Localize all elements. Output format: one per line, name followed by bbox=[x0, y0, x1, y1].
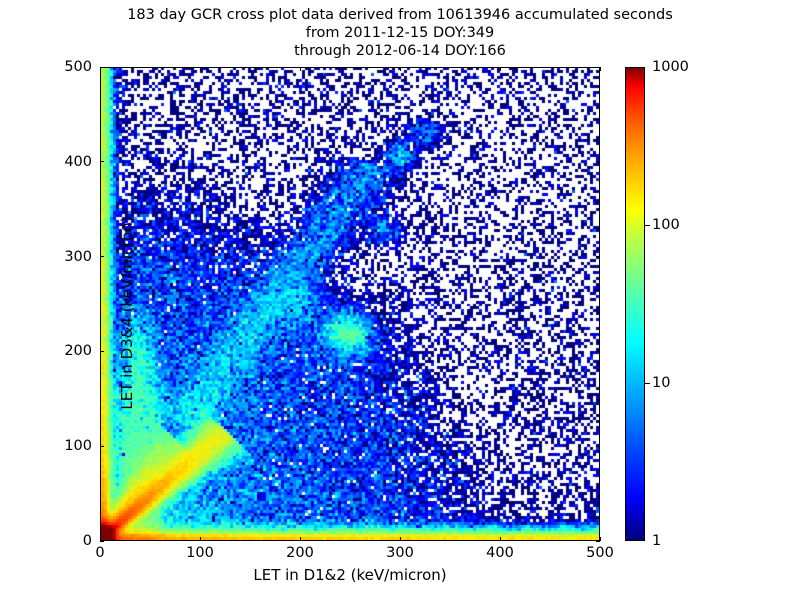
x-tick-mark bbox=[300, 537, 301, 541]
colorbar-tick-label: 100 bbox=[652, 217, 680, 233]
y-tick-mark bbox=[100, 67, 104, 68]
colorbar-tick-label: 1000 bbox=[652, 59, 689, 75]
y-tick-mark-right bbox=[596, 541, 600, 542]
y-axis-label: LET in D3&4 (keV/micron) bbox=[118, 76, 136, 550]
x-tick-mark-top bbox=[300, 67, 301, 71]
x-tick-label: 200 bbox=[286, 545, 314, 561]
x-tick-label: 400 bbox=[486, 545, 514, 561]
x-tick-mark bbox=[500, 537, 501, 541]
x-tick-label: 0 bbox=[95, 545, 104, 561]
y-tick-mark bbox=[100, 256, 104, 257]
y-tick-label: 200 bbox=[36, 343, 92, 359]
x-tick-mark-top bbox=[400, 67, 401, 71]
colorbar-tick-mark bbox=[645, 383, 650, 384]
y-tick-mark-right bbox=[596, 351, 600, 352]
colorbar-tick-label: 10 bbox=[652, 375, 670, 391]
x-tick-mark-top bbox=[100, 67, 101, 71]
y-tick-mark-right bbox=[596, 161, 600, 162]
y-tick-label: 400 bbox=[36, 154, 92, 170]
y-tick-label: 500 bbox=[36, 59, 92, 75]
title-line-1: 183 day GCR cross plot data derived from… bbox=[0, 6, 800, 24]
y-tick-label: 300 bbox=[36, 249, 92, 265]
y-tick-mark bbox=[100, 446, 104, 447]
x-tick-label: 500 bbox=[586, 545, 614, 561]
figure-canvas: 183 day GCR cross plot data derived from… bbox=[0, 0, 800, 600]
y-tick-mark-right bbox=[596, 446, 600, 447]
plot-axes[interactable] bbox=[100, 67, 600, 541]
colorbar-tick-mark bbox=[645, 225, 650, 226]
colorbar[interactable] bbox=[625, 67, 645, 541]
x-axis-label: LET in D1&2 (keV/micron) bbox=[100, 566, 600, 584]
x-tick-mark bbox=[200, 537, 201, 541]
x-tick-mark-top bbox=[600, 67, 601, 71]
plot-title: 183 day GCR cross plot data derived from… bbox=[0, 6, 800, 60]
x-tick-label: 300 bbox=[386, 545, 414, 561]
y-tick-mark bbox=[100, 351, 104, 352]
y-tick-label: 100 bbox=[36, 438, 92, 454]
y-tick-mark-right bbox=[596, 67, 600, 68]
y-tick-mark bbox=[100, 161, 104, 162]
y-tick-mark-right bbox=[596, 256, 600, 257]
title-line-2: from 2011-12-15 DOY:349 bbox=[0, 24, 800, 42]
colorbar-tick-label: 1 bbox=[652, 533, 661, 549]
x-tick-mark-top bbox=[200, 67, 201, 71]
title-line-3: through 2012-06-14 DOY:166 bbox=[0, 42, 800, 60]
y-tick-label: 0 bbox=[36, 533, 92, 549]
x-tick-mark-top bbox=[500, 67, 501, 71]
y-tick-mark bbox=[100, 541, 104, 542]
density-heatmap bbox=[101, 68, 599, 540]
x-tick-label: 100 bbox=[186, 545, 214, 561]
x-tick-mark bbox=[400, 537, 401, 541]
